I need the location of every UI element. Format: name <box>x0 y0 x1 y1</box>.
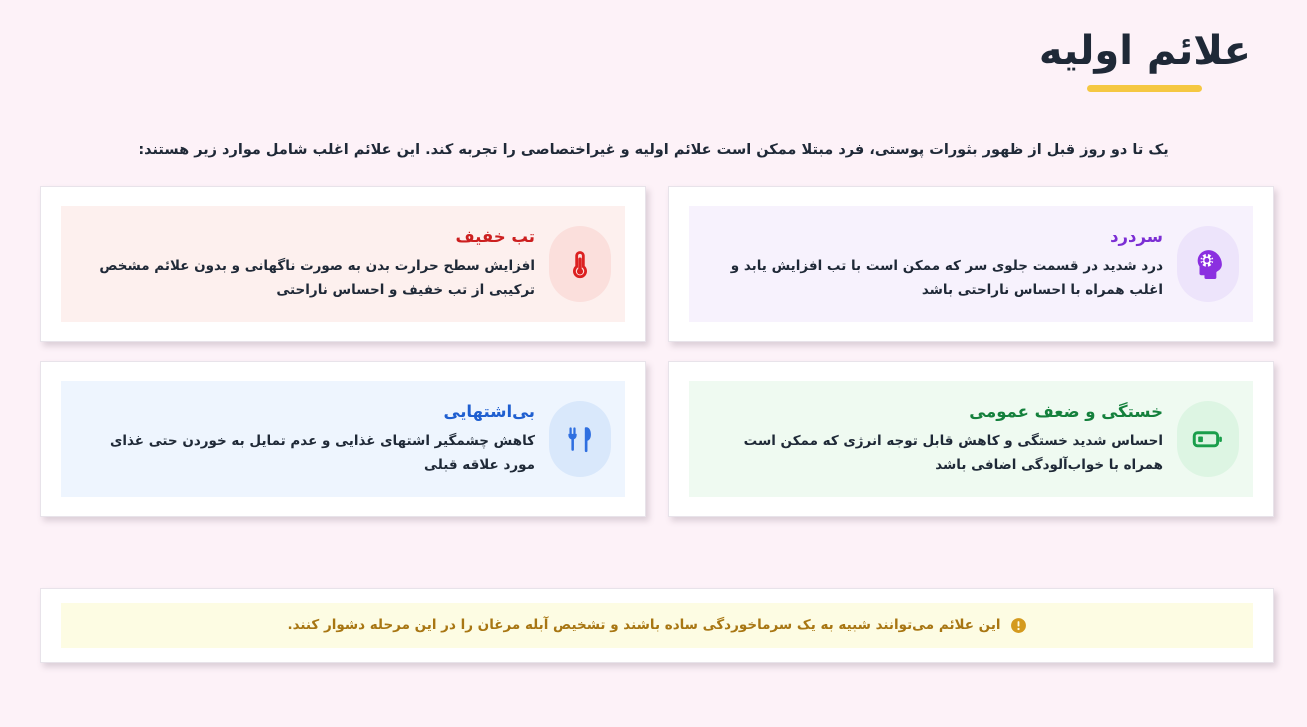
card-title: تب خفیف <box>77 226 535 248</box>
warning-inner-panel: این علائم می‌توانند شبیه به یک سرماخوردگ… <box>61 603 1253 648</box>
low-battery-icon <box>1191 422 1225 456</box>
page-subtitle: یک تا دو روز قبل از ظهور بثورات پوستی، ف… <box>38 139 1269 162</box>
warning-banner: این علائم می‌توانند شبیه به یک سرماخوردگ… <box>40 588 1274 663</box>
card-title: بی‌اشتهایی <box>77 401 535 423</box>
icon-badge <box>1177 226 1239 302</box>
slide-root: علائم اولیه یک تا دو روز قبل از ظهور بثو… <box>0 0 1307 727</box>
card-text-block: بی‌اشتهایی کاهش چشمگیر اشتهای غذایی و عد… <box>73 401 535 477</box>
card-inner-panel: تب خفیف افزایش سطح حرارت بدن به صورت ناگ… <box>61 206 625 322</box>
card-description: افزایش سطح حرارت بدن به صورت ناگهانی و ب… <box>77 255 535 301</box>
icon-badge <box>549 226 611 302</box>
icon-badge <box>549 401 611 477</box>
page-title: علائم اولیه <box>1039 26 1251 76</box>
fork-knife-icon <box>564 423 596 455</box>
icon-badge <box>1177 401 1239 477</box>
card-text-block: خستگی و ضعف عمومی احساس شدید خستگی و کاه… <box>701 401 1163 477</box>
symptom-card-fatigue[interactable]: خستگی و ضعف عمومی احساس شدید خستگی و کاه… <box>668 361 1274 517</box>
card-description: درد شدید در قسمت جلوی سر که ممکن است با … <box>705 255 1163 301</box>
alert-circle-icon <box>1010 617 1027 634</box>
card-description: احساس شدید خستگی و کاهش قابل توجه انرژی … <box>705 430 1163 476</box>
page-header: علائم اولیه <box>1039 26 1251 92</box>
card-title: سردرد <box>705 226 1163 248</box>
thermometer-icon <box>564 248 596 280</box>
card-inner-panel: سردرد درد شدید در قسمت جلوی سر که ممکن ا… <box>689 206 1253 322</box>
card-text-block: تب خفیف افزایش سطح حرارت بدن به صورت ناگ… <box>73 226 535 302</box>
card-title: خستگی و ضعف عمومی <box>705 401 1163 423</box>
card-inner-panel: بی‌اشتهایی کاهش چشمگیر اشتهای غذایی و عد… <box>61 381 625 497</box>
title-underline-bar <box>1087 85 1202 92</box>
head-gear-icon <box>1191 247 1225 281</box>
card-description: کاهش چشمگیر اشتهای غذایی و عدم تمایل به … <box>77 430 535 476</box>
symptom-card-headache[interactable]: سردرد درد شدید در قسمت جلوی سر که ممکن ا… <box>668 186 1274 342</box>
symptom-card-fever[interactable]: تب خفیف افزایش سطح حرارت بدن به صورت ناگ… <box>40 186 646 342</box>
card-text-block: سردرد درد شدید در قسمت جلوی سر که ممکن ا… <box>701 226 1163 302</box>
symptom-card-grid: سردرد درد شدید در قسمت جلوی سر که ممکن ا… <box>40 186 1274 517</box>
symptom-card-appetite[interactable]: بی‌اشتهایی کاهش چشمگیر اشتهای غذایی و عد… <box>40 361 646 517</box>
card-inner-panel: خستگی و ضعف عمومی احساس شدید خستگی و کاه… <box>689 381 1253 497</box>
warning-text: این علائم می‌توانند شبیه به یک سرماخوردگ… <box>287 615 1000 635</box>
